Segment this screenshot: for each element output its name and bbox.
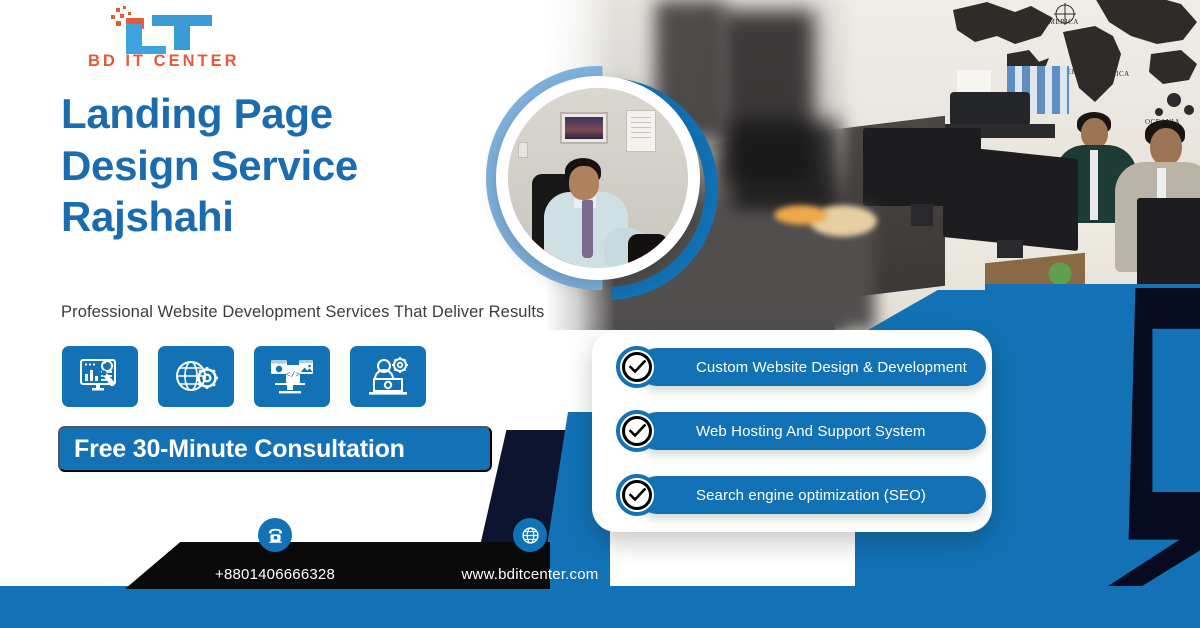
- analytics-monitor-wrench-icon: [78, 357, 122, 397]
- contact-website[interactable]: www.bditcenter.com: [455, 518, 605, 583]
- contact-info: +8801406666328 www.bditcenter.com: [200, 518, 605, 583]
- check-inner-ring: [622, 416, 652, 446]
- feature-pill[interactable]: Web Hosting And Support System: [638, 412, 986, 450]
- bottom-blue-bar: [0, 586, 1200, 628]
- globe-icon: [513, 518, 547, 552]
- monitor-stand: [997, 240, 1023, 258]
- lanyard: [1090, 150, 1098, 220]
- telephone-icon: [258, 518, 292, 552]
- check-circle-icon: [616, 410, 658, 452]
- map-label-africa: AFRICA: [1101, 70, 1130, 78]
- headline-line-3: Rajshahi: [61, 191, 531, 243]
- checkmark-icon: [629, 360, 646, 374]
- feature-item[interactable]: Web Hosting And Support System: [608, 408, 976, 454]
- check-inner-ring: [622, 480, 652, 510]
- service-tile-analytics[interactable]: [62, 346, 138, 407]
- service-tiles: </>: [62, 346, 426, 407]
- developer-laptop-gear-icon: [366, 357, 410, 397]
- checkmark-icon: [629, 488, 646, 502]
- telephone-glyph-icon: [266, 526, 285, 545]
- feature-item[interactable]: Search engine optimization (SEO): [608, 472, 976, 518]
- check-circle-icon: [616, 474, 658, 516]
- service-tile-global[interactable]: [158, 346, 234, 407]
- map-label-north-america: NORTH AMERICA: [1015, 18, 1079, 26]
- checkmark-icon: [629, 424, 646, 438]
- feature-item[interactable]: Custom Website Design & Development: [608, 344, 976, 390]
- portrait-photo: [508, 88, 688, 268]
- desk-plant: [1045, 250, 1075, 284]
- feature-pill[interactable]: Custom Website Design & Development: [638, 348, 986, 386]
- person-head: [1150, 128, 1182, 166]
- logo-wordmark: BD IT CENTER: [88, 52, 263, 71]
- portrait-group-photo: [565, 117, 603, 139]
- brand-logo[interactable]: BD IT CENTER: [88, 6, 268, 78]
- portrait-certificate: [626, 110, 656, 152]
- portrait-bag: [628, 234, 668, 268]
- snack-tray: [765, 185, 885, 245]
- feature-list-card: Custom Website Design & Development Web …: [592, 330, 992, 532]
- monitor-stand: [911, 204, 933, 226]
- headline-line-2: Design Service: [61, 140, 531, 192]
- lt-monogram-icon: [108, 6, 258, 54]
- logo-mark: [108, 6, 258, 52]
- portrait-tie: [582, 200, 593, 258]
- check-circle-icon: [616, 346, 658, 388]
- website-url[interactable]: www.bditcenter.com: [455, 566, 605, 583]
- globe-gear-icon: [174, 358, 218, 396]
- monitor: [943, 145, 1078, 251]
- consultation-cta-button[interactable]: Free 30-Minute Consultation: [58, 426, 492, 472]
- landing-page-banner: NORTH AMERICA SOUTH AMERICA AFRICA OCEAN…: [0, 0, 1200, 628]
- portrait-group-photo-frame: [560, 112, 608, 144]
- web-design-monitor-icon: </>: [269, 357, 315, 397]
- headline-line-1: Landing Page: [61, 88, 531, 140]
- svg-text:</>: </>: [286, 371, 301, 380]
- subheadline: Professional Website Development Service…: [61, 303, 544, 322]
- portrait-face: [569, 166, 599, 200]
- contact-phone[interactable]: +8801406666328: [200, 518, 350, 583]
- page-title: Landing Page Design Service Rajshahi: [61, 88, 531, 243]
- service-tile-webdesign[interactable]: </>: [254, 346, 330, 407]
- check-inner-ring: [622, 352, 652, 382]
- globe-glyph-icon: [521, 526, 540, 545]
- service-tile-support[interactable]: [350, 346, 426, 407]
- phone-number[interactable]: +8801406666328: [200, 566, 350, 583]
- feature-pill[interactable]: Search engine optimization (SEO): [638, 476, 986, 514]
- printer: [950, 92, 1030, 126]
